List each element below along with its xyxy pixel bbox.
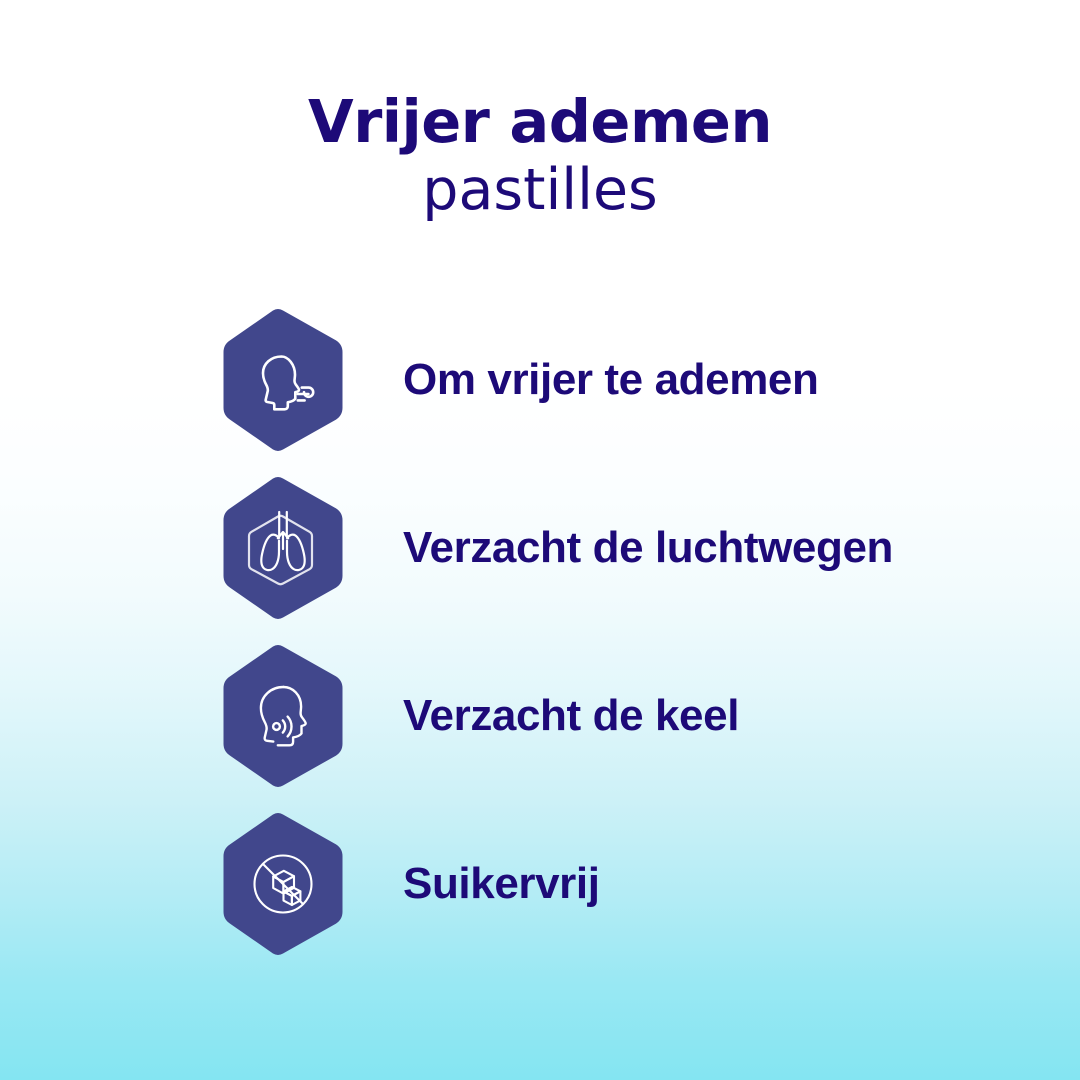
benefit-row: Verzacht de keel <box>0 632 1080 800</box>
product-benefits-poster: Vrijer ademen pastilles Om vrijer te ade… <box>0 0 1080 1080</box>
benefits-list: Om vrijer te ademen Ve <box>0 296 1080 968</box>
title-line-primary: Vrijer ademen <box>0 92 1080 152</box>
benefit-label: Suikervrij <box>403 861 600 907</box>
benefit-label: Verzacht de keel <box>403 693 739 739</box>
benefit-label: Verzacht de luchtwegen <box>403 525 893 571</box>
benefit-icon-badge <box>221 812 345 956</box>
benefit-row: Suikervrij <box>0 800 1080 968</box>
benefit-row: Om vrijer te ademen <box>0 296 1080 464</box>
hexagon-shape <box>224 309 343 451</box>
page-title: Vrijer ademen pastilles <box>0 92 1080 229</box>
benefit-row: Verzacht de luchtwegen <box>0 464 1080 632</box>
benefit-icon-badge <box>221 644 345 788</box>
benefit-label: Om vrijer te ademen <box>403 357 818 403</box>
title-line-secondary: pastilles <box>0 152 1080 229</box>
hexagon-shape <box>224 645 343 787</box>
benefit-icon-badge <box>221 308 345 452</box>
benefit-icon-badge <box>221 476 345 620</box>
